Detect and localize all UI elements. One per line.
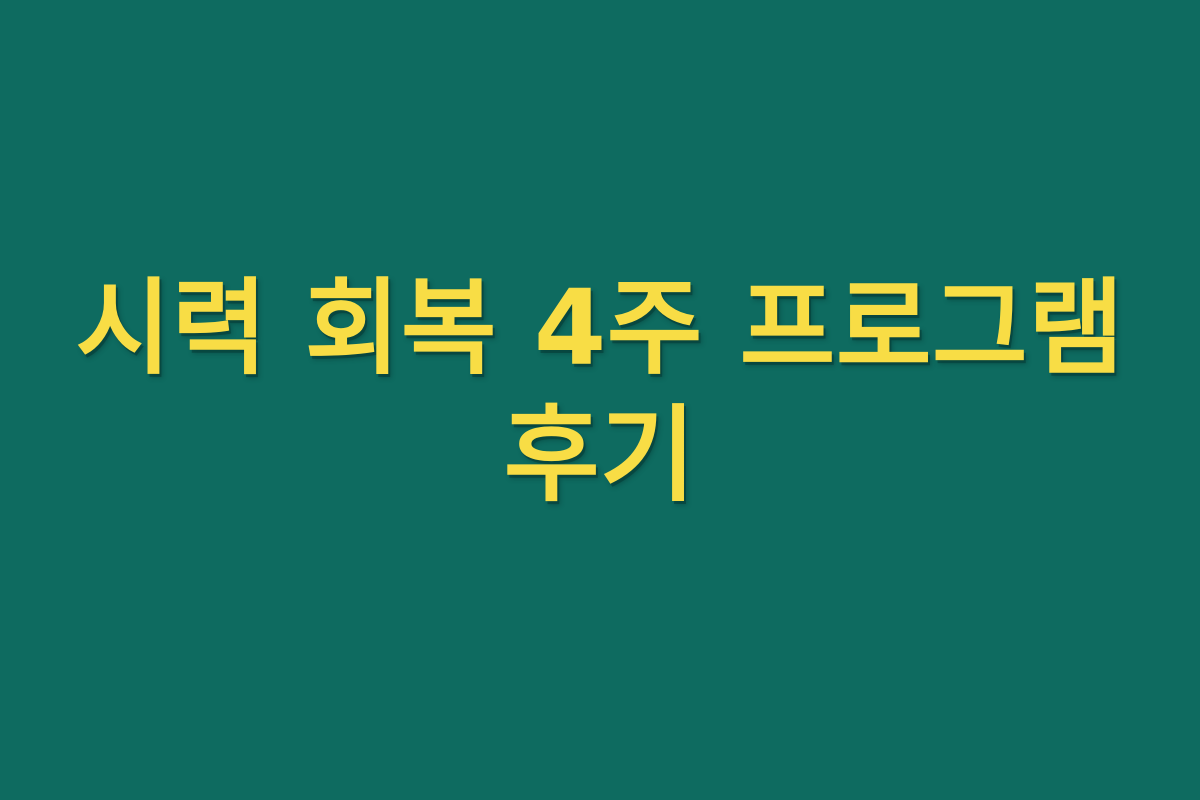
title-line-1: 시력 회복 4주 프로그램 [70, 265, 1130, 392]
title-banner: 시력 회복 4주 프로그램 후기 [0, 0, 1200, 800]
page-title: 시력 회복 4주 프로그램 후기 [70, 265, 1130, 519]
title-line-2: 후기 [70, 392, 1130, 519]
